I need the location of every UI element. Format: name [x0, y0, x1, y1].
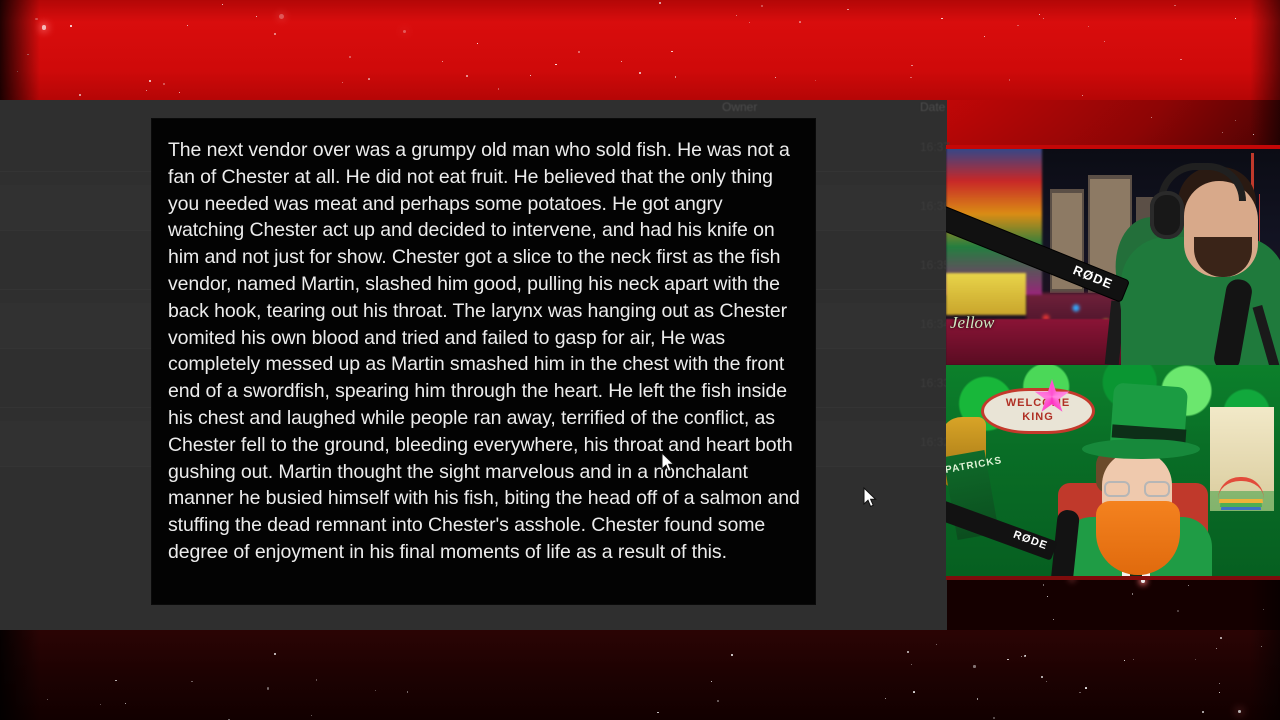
star-dot	[1188, 585, 1189, 586]
story-text-panel[interactable]: The next vendor over was a grumpy old ma…	[152, 119, 815, 604]
star-dot	[311, 715, 312, 716]
star-dot	[1021, 656, 1022, 657]
star-dot	[274, 33, 276, 35]
webcam-feed-top[interactable]: Jellow RØDE	[946, 145, 1280, 365]
star-dot	[368, 78, 370, 80]
star-dot	[42, 25, 46, 29]
star-dot	[578, 51, 580, 53]
star-dot	[498, 88, 499, 89]
webcam-bottom-edge	[946, 576, 1280, 580]
star-dot	[555, 64, 556, 65]
star-dot	[675, 76, 676, 77]
column-header-owner[interactable]: Owner	[722, 100, 757, 114]
star-dot	[711, 681, 712, 682]
star-dot	[984, 36, 985, 37]
eyeglasses-icon	[1104, 481, 1170, 497]
star-dot	[279, 14, 284, 19]
eyeglass-left-lens	[1104, 481, 1130, 497]
star-dot	[639, 72, 641, 74]
star-dot	[1219, 692, 1220, 693]
star-dot	[466, 75, 468, 77]
star-dot	[1082, 95, 1083, 96]
star-dot	[1220, 637, 1222, 639]
screen-stage: Owner Date hours16:37hours16:36hours16:3…	[0, 0, 1280, 720]
jellow-sign: Jellow	[950, 313, 1036, 335]
star-dot	[913, 691, 915, 693]
star-dot	[977, 698, 978, 699]
star-dot	[179, 92, 180, 93]
star-dot	[47, 699, 48, 700]
eyeglass-right-lens	[1144, 481, 1170, 497]
star-dot	[1235, 18, 1236, 19]
column-header-date[interactable]: Date	[920, 100, 945, 114]
webcam-top-edge	[946, 145, 1280, 149]
star-dot	[1079, 692, 1080, 693]
star-dot	[907, 651, 908, 652]
star-dot	[1047, 596, 1048, 597]
star-dot	[316, 679, 317, 680]
star-dot	[775, 77, 776, 78]
star-dot	[1009, 79, 1011, 81]
star-dot	[191, 681, 192, 682]
rainbow-poster	[1210, 407, 1274, 511]
star-dot	[187, 25, 188, 26]
star-dot	[1046, 681, 1047, 682]
star-dot	[736, 15, 737, 16]
star-dot	[671, 51, 672, 52]
star-dot	[222, 4, 223, 5]
rainbow-arc-icon	[1218, 477, 1264, 499]
star-dot	[79, 94, 81, 96]
star-dot	[911, 65, 913, 67]
leprechaun-hat-brim	[1082, 439, 1200, 459]
star-dot	[815, 80, 816, 81]
star-dot	[1222, 132, 1223, 133]
star-dot	[70, 25, 72, 27]
pointer-main-cursor	[863, 487, 877, 509]
star-dot	[407, 691, 409, 693]
star-dot	[1053, 619, 1054, 620]
star-dot	[1238, 710, 1241, 713]
star-dot	[799, 21, 801, 23]
wallpaper-top-band	[0, 0, 1280, 100]
pointer-over-text-cursor	[661, 452, 675, 474]
star-dot	[717, 700, 719, 702]
star-dot	[885, 698, 886, 699]
webcam-feed-bottom[interactable]: WELCOME KING PATRICKS	[946, 365, 1280, 580]
story-text: The next vendor over was a grumpy old ma…	[168, 137, 800, 566]
wallpaper-bottom-band	[0, 630, 1280, 720]
webcam-bottom-content: WELCOME KING PATRICKS	[946, 365, 1280, 580]
star-dot	[1043, 18, 1044, 19]
welcome-sign: WELCOME KING	[984, 391, 1092, 431]
star-dot	[847, 9, 848, 10]
webcam-top-content: Jellow RØDE	[946, 145, 1280, 365]
star-dot	[1041, 676, 1043, 678]
welcome-sign-line2: KING	[1022, 411, 1054, 423]
star-dot	[761, 5, 763, 7]
star-dot	[256, 16, 257, 17]
star-dot	[1085, 687, 1087, 689]
snack-shelf	[946, 273, 1026, 315]
star-dot	[731, 654, 733, 656]
star-dot	[973, 665, 975, 667]
headphone-earcup-icon	[1150, 191, 1184, 239]
star-dot	[993, 717, 995, 719]
